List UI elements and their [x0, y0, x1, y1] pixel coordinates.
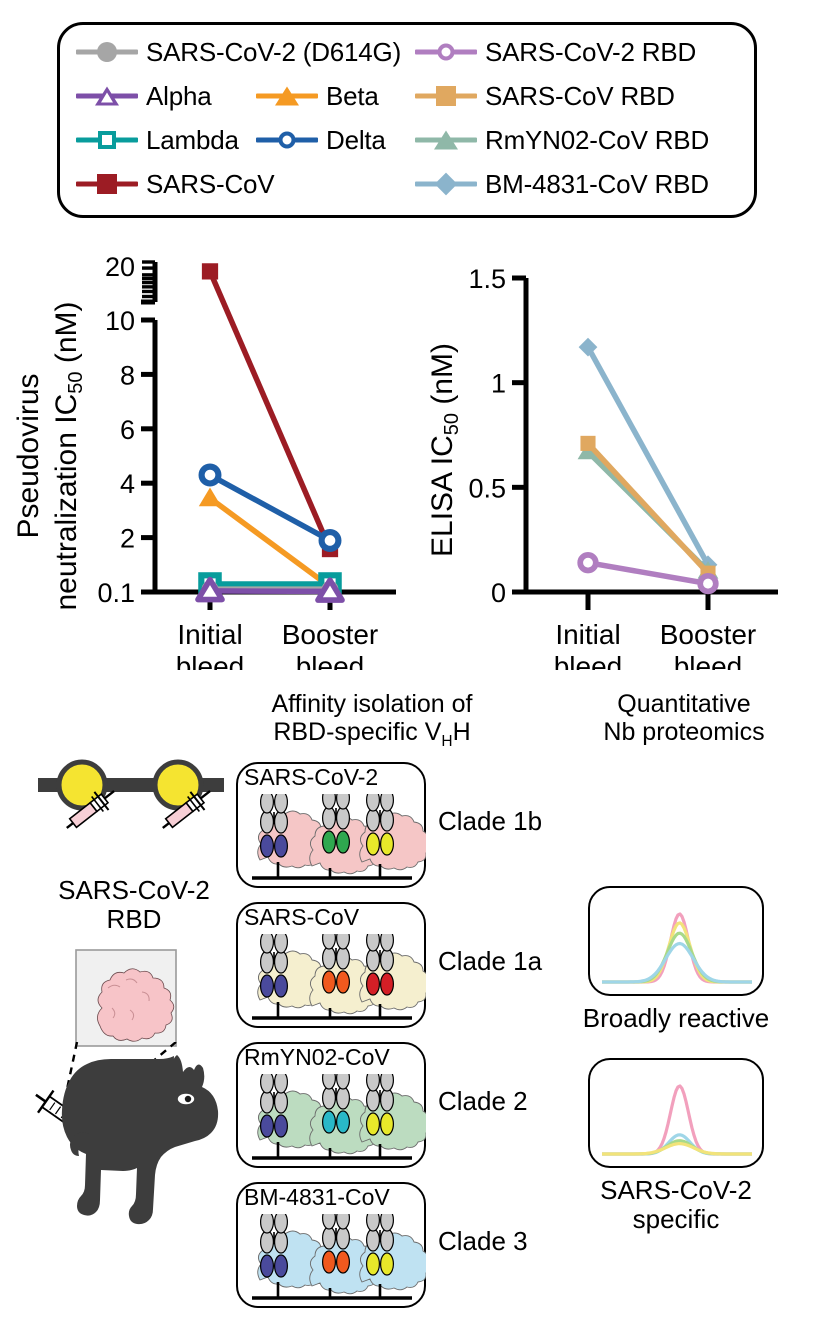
pseudovirus-chart-svg: 0.124681020InitialbleedBoosterbleedPseud…: [0, 240, 400, 670]
y-tick-label: 6: [120, 415, 135, 445]
series-line: [588, 443, 708, 573]
legend-item-sars-cov: SARS-CoV: [76, 169, 274, 199]
clade-box-illustration: [236, 794, 426, 886]
pseudovirus-chart: 0.124681020InitialbleedBoosterbleedPseud…: [0, 240, 400, 670]
affinity-column: Affinity isolation of RBD-specific VHH S…: [236, 690, 566, 1331]
legend-item-rmyn02-cov-rbd: RmYN02-CoV RBD: [415, 125, 709, 155]
legend-item-label: SARS-CoV RBD: [485, 83, 675, 109]
affinity-title-pre: RBD-specific V: [273, 718, 441, 746]
x-tick-label-line1: Initial: [177, 619, 242, 650]
peak-trace: [602, 944, 752, 983]
series-line: [588, 347, 708, 565]
clade-label: Clade 3: [438, 1226, 528, 1257]
elisa-chart-svg: 00.511.5InitialbleedBoosterbleedELISA IC…: [408, 240, 808, 670]
x-tick-label-line2: bleed: [296, 651, 365, 670]
legend-box: SARS-CoV-2 (D614G)AlphaBetaLambdaDeltaSA…: [57, 22, 757, 218]
legend-item-label: Beta: [326, 83, 379, 109]
clade-box-clade-1b: SARS-CoV-2Clade 1b: [236, 762, 426, 888]
proteomics-title: Quantitative Nb proteomics: [570, 690, 798, 746]
data-point-marker: [580, 436, 595, 451]
y-axis-title-line1: Pseudovirus: [12, 373, 45, 538]
x-tick-label-line2: bleed: [176, 651, 245, 670]
clade-box-illustration: [236, 934, 426, 1026]
clade-box-clade-3: BM-4831-CoVClade 3: [236, 1182, 426, 1308]
immunogen-caption: SARS-CoV-2 RBD: [30, 876, 238, 934]
x-tick-label-line2: bleed: [674, 651, 743, 670]
x-tick-label-line1: Booster: [660, 619, 757, 650]
y-tick-label: 0.5: [468, 473, 506, 503]
legend-marker-icon: [76, 37, 138, 67]
clade-box-illustration: [236, 1214, 426, 1306]
y-tick-label: 0.1: [97, 578, 135, 608]
affinity-title-line2: RBD-specific VHH: [236, 718, 508, 750]
peak-caption-line1: Broadly reactive: [570, 1004, 782, 1033]
affinity-title-post: H: [453, 718, 471, 746]
clade-box-label: RmYN02-CoV: [244, 1044, 390, 1071]
legend-item-label: RmYN02-CoV RBD: [485, 127, 709, 153]
workflow-schematic: SARS-CoV-2 RBD: [0, 690, 815, 1331]
peak-trace: [602, 1144, 752, 1154]
series-line: [588, 563, 708, 584]
data-point-marker: [580, 555, 596, 571]
clade-box-label: SARS-CoV-2: [244, 764, 378, 791]
legend-item-beta: Beta: [256, 81, 379, 111]
llama-immunization: [30, 1042, 260, 1322]
y-tick-label: 1.5: [468, 264, 506, 294]
clade-box-illustration: [236, 1074, 426, 1166]
data-point-marker: [202, 263, 218, 279]
llama-eye: [177, 1093, 195, 1105]
legend-marker-icon: [415, 125, 477, 155]
y-tick-label-20: 20: [105, 252, 135, 282]
series-sars-cov: [202, 263, 338, 557]
clade-box-clade-2: RmYN02-CoVClade 2: [236, 1042, 426, 1168]
affinity-title: Affinity isolation of RBD-specific VHH: [236, 690, 508, 750]
y-tick-label: 2: [120, 524, 135, 554]
y-tick-label: 8: [120, 360, 135, 390]
proteomics-panel-2: SARS-CoV-2specific: [588, 1058, 788, 1228]
legend-items: SARS-CoV-2 (D614G)AlphaBetaLambdaDeltaSA…: [60, 25, 754, 215]
llama-icon: [62, 1055, 218, 1224]
legend-item-sars-cov-rbd: SARS-CoV RBD: [415, 81, 675, 111]
y-axis-title-line2: neutralization IC50 (nM): [50, 301, 87, 610]
legend-item-sars-cov-2-rbd: SARS-CoV-2 RBD: [415, 37, 696, 67]
legend-marker-icon: [76, 169, 138, 199]
legend-item-label: SARS-CoV-2 RBD: [485, 39, 696, 65]
legend-marker-icon: [415, 169, 477, 199]
data-point-marker: [199, 488, 221, 507]
peak-caption-line1: SARS-CoV-2: [570, 1176, 782, 1205]
y-tick-label: 1: [491, 369, 506, 399]
legend-item-label: BM-4831-CoV RBD: [485, 171, 709, 197]
affinity-title-line1: Affinity isolation of: [236, 690, 508, 718]
proteomics-title-line1: Quantitative: [570, 690, 798, 718]
clade-label: Clade 2: [438, 1086, 528, 1117]
data-point-marker: [202, 467, 219, 484]
clade-box-label: SARS-CoV: [244, 904, 359, 931]
legend-marker-icon: [256, 81, 318, 111]
y-tick-label: 0: [491, 578, 506, 608]
clade-label: Clade 1a: [438, 946, 542, 977]
clade-box-clade-1a: SARS-CoVClade 1a: [236, 902, 426, 1028]
legend-marker-icon: [415, 81, 477, 111]
peak-chart: [588, 1058, 764, 1168]
x-tick-label-line1: Booster: [282, 619, 379, 650]
proteomics-title-line2: Nb proteomics: [570, 718, 798, 746]
peak-chart: [588, 886, 764, 996]
proteomics-column: Quantitative Nb proteomics Broadly react…: [570, 690, 815, 1331]
peak-panel-caption: SARS-CoV-2specific: [570, 1176, 782, 1234]
y-tick-label: 4: [120, 469, 135, 499]
legend-item-sars-cov-2-d614g: SARS-CoV-2 (D614G): [76, 37, 401, 67]
proteomics-panel-1: Broadly reactive: [588, 886, 788, 1056]
legend-marker-icon: [76, 81, 138, 111]
data-point-marker: [322, 532, 339, 549]
x-tick-label-line1: Initial: [555, 619, 620, 650]
legend-item-delta: Delta: [256, 125, 386, 155]
y-axis-title: ELISA IC50 (nM): [426, 343, 463, 557]
series-line: [210, 591, 330, 592]
legend-item-label: Delta: [326, 127, 386, 153]
peak-panel-caption: Broadly reactive: [570, 1004, 782, 1033]
legend-item-label: Lambda: [146, 127, 239, 153]
legend-item-alpha: Alpha: [76, 81, 212, 111]
elisa-chart: 00.511.5InitialbleedBoosterbleedELISA IC…: [408, 240, 808, 670]
legend-item-lambda: Lambda: [76, 125, 239, 155]
legend-marker-icon: [415, 37, 477, 67]
clade-box-label: BM-4831-CoV: [244, 1184, 390, 1211]
immunization-timeline: [30, 756, 240, 886]
legend-item-label: SARS-CoV: [146, 171, 274, 197]
legend-item-label: Alpha: [146, 83, 212, 109]
legend-marker-icon: [256, 125, 318, 155]
y-tick-label: 10: [105, 306, 135, 336]
legend-item-bm-4831-cov-rbd: BM-4831-CoV RBD: [415, 169, 709, 199]
peak-trace: [602, 923, 752, 982]
data-point-marker: [700, 576, 716, 592]
peak-trace: [602, 933, 752, 982]
immunization-column: SARS-CoV-2 RBD: [30, 690, 240, 1331]
legend-item-label: SARS-CoV-2 (D614G): [146, 39, 401, 65]
immunogen-caption-line2: RBD: [30, 905, 238, 934]
immunogen-caption-line1: SARS-CoV-2: [30, 876, 238, 905]
peak-caption-line2: specific: [570, 1205, 782, 1234]
affinity-title-sub: H: [441, 733, 452, 750]
clade-label: Clade 1b: [438, 806, 542, 837]
x-tick-label-line2: bleed: [554, 651, 623, 670]
legend-marker-icon: [76, 125, 138, 155]
